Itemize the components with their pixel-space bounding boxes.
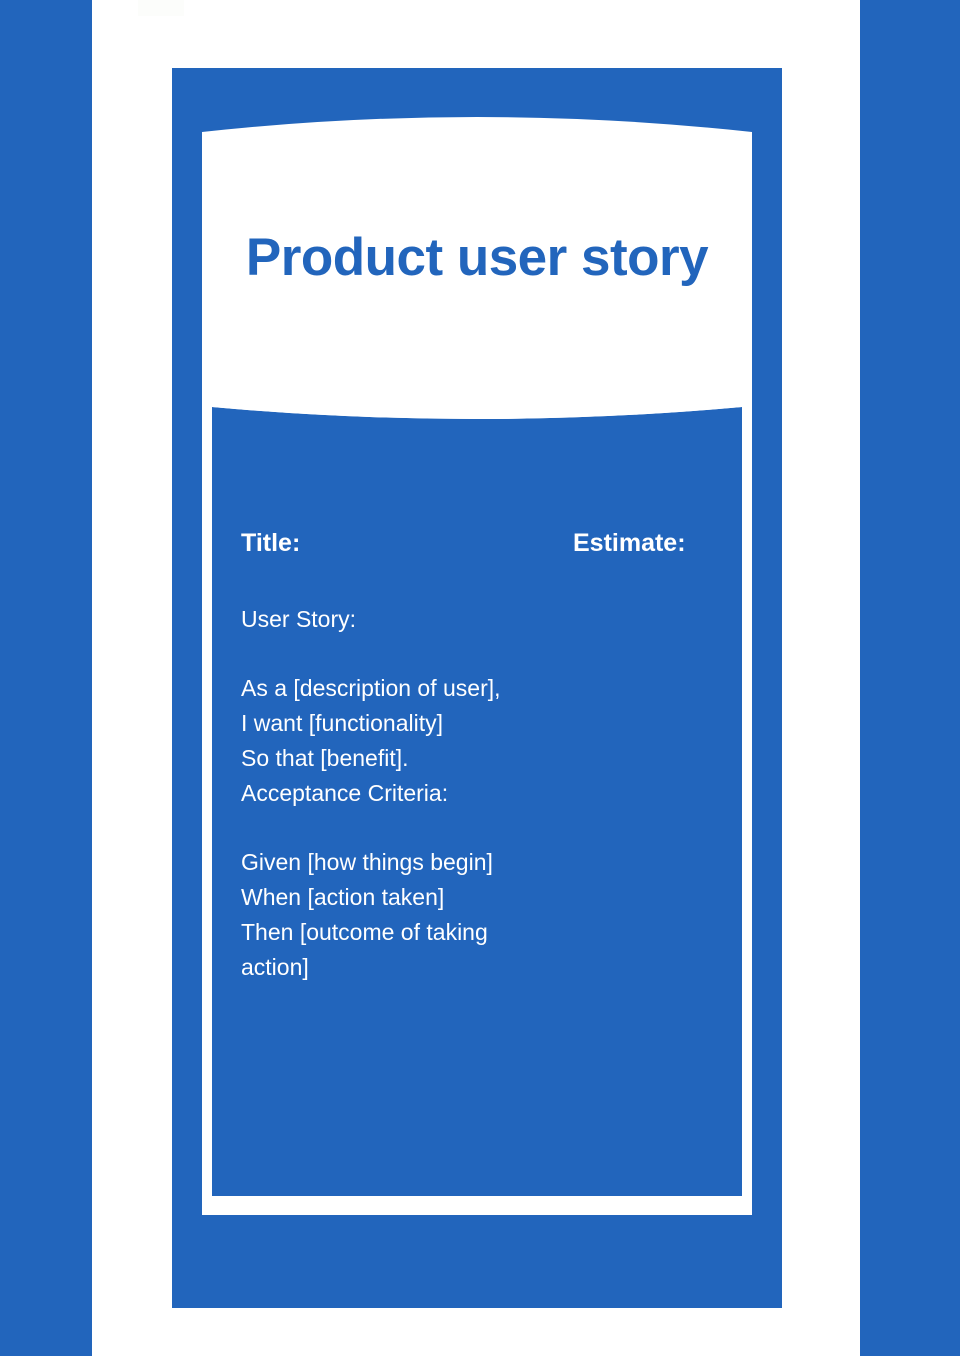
right-margin-band <box>860 0 960 1356</box>
user-story-line: As a [description of user], <box>241 671 724 706</box>
page-top-artifact <box>138 0 184 16</box>
criteria-line: Given [how things begin] <box>241 845 724 880</box>
user-story-lines: As a [description of user], I want [func… <box>241 671 724 811</box>
page-title: Product user story <box>246 230 708 286</box>
criteria-line: Then [outcome of taking <box>241 915 724 950</box>
acceptance-criteria-label: Acceptance Criteria: <box>241 776 724 811</box>
user-story-label: User Story: <box>241 602 724 637</box>
estimate-field-label: Estimate: <box>573 529 686 558</box>
user-story-line: I want [functionality] <box>241 706 724 741</box>
title-field-label: Title: <box>241 529 573 558</box>
title-area: Product user story <box>202 108 752 408</box>
story-content-block: Title: Estimate: User Story: As a [descr… <box>212 407 742 1196</box>
acceptance-criteria-lines: Given [how things begin] When [action ta… <box>241 845 724 985</box>
criteria-line: When [action taken] <box>241 880 724 915</box>
concave-top-decoration <box>212 407 742 431</box>
spacer-before-criteria <box>241 811 724 845</box>
criteria-line: action] <box>241 950 724 985</box>
story-fields: Title: Estimate: User Story: As a [descr… <box>241 529 724 985</box>
user-story-line: So that [benefit]. <box>241 741 724 776</box>
spacer-after-user-story-label <box>241 637 724 671</box>
title-estimate-row: Title: Estimate: <box>241 529 724 558</box>
page-canvas: Product user story Title: Estimate: User… <box>0 0 960 1356</box>
left-margin-band <box>0 0 92 1356</box>
